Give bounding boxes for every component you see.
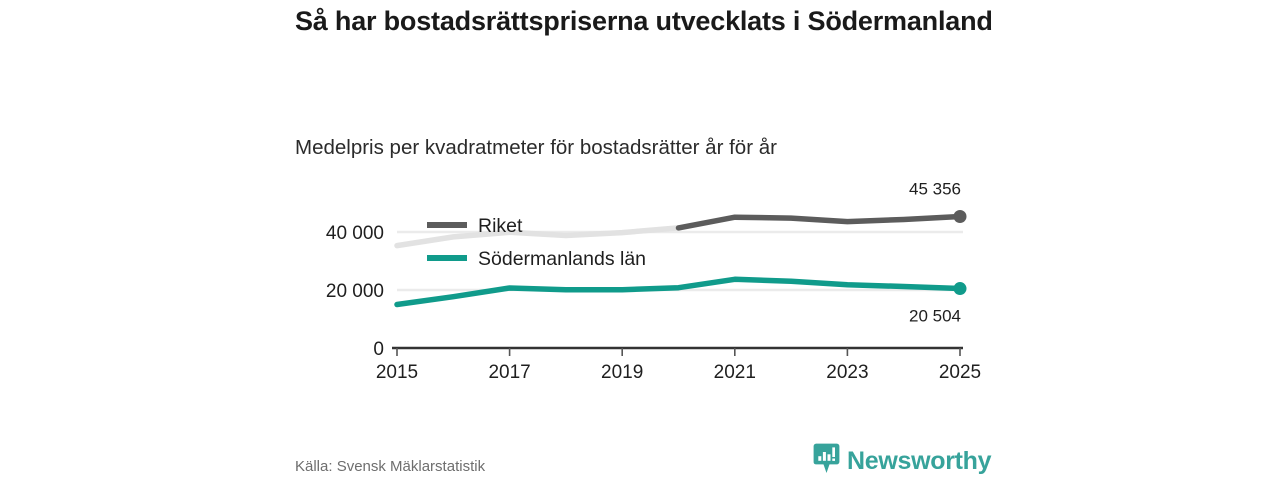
brand-logo: Newsworthy bbox=[813, 443, 991, 479]
series-line bbox=[397, 279, 960, 304]
y-tick-labels: 020 00040 000 bbox=[326, 223, 384, 360]
series-end-marker bbox=[954, 210, 967, 223]
y-tick-label: 40 000 bbox=[326, 223, 384, 244]
end-value-labels: 45 35620 504 bbox=[909, 180, 961, 326]
end-value-label-sodermanland: 20 504 bbox=[909, 307, 961, 326]
end-value-label-riket: 45 356 bbox=[909, 180, 961, 198]
legend-label-riket: Riket bbox=[478, 215, 523, 237]
chart-subtitle: Medelpris per kvadratmeter för bostadsrä… bbox=[295, 135, 995, 162]
x-tick-label: 2015 bbox=[376, 362, 418, 383]
x-tick-label: 2023 bbox=[826, 362, 868, 383]
line-chart: 020 00040 000 201520172019202120232025 4… bbox=[0, 180, 1280, 395]
infographic-root: Så har bostadsrättspriserna utvecklats i… bbox=[0, 0, 1280, 480]
y-tick-label: 0 bbox=[373, 339, 384, 360]
y-tick-label: 20 000 bbox=[326, 281, 384, 302]
newsworthy-chart-bubble-icon bbox=[813, 443, 840, 479]
page-title: Så har bostadsrättspriserna utvecklats i… bbox=[295, 4, 995, 39]
x-tick-labels: 201520172019202120232025 bbox=[376, 362, 981, 383]
series-line bbox=[679, 217, 961, 228]
chart-canvas: 020 00040 000 201520172019202120232025 4… bbox=[0, 180, 1280, 395]
x-tick-label: 2021 bbox=[714, 362, 756, 383]
series-line-muted bbox=[397, 228, 679, 246]
legend-label-sodermanlands-lan: Södermanlands län bbox=[478, 248, 646, 270]
source-note: Källa: Svensk Mäklarstatistik bbox=[295, 458, 485, 475]
series-end-marker bbox=[954, 282, 967, 295]
x-tick-label: 2017 bbox=[488, 362, 530, 383]
brand-name: Newsworthy bbox=[847, 447, 991, 476]
x-tick-label: 2019 bbox=[601, 362, 643, 383]
chart-legend: RiketSödermanlands län bbox=[427, 215, 646, 270]
x-axis bbox=[392, 348, 963, 356]
x-tick-label: 2025 bbox=[939, 362, 981, 383]
